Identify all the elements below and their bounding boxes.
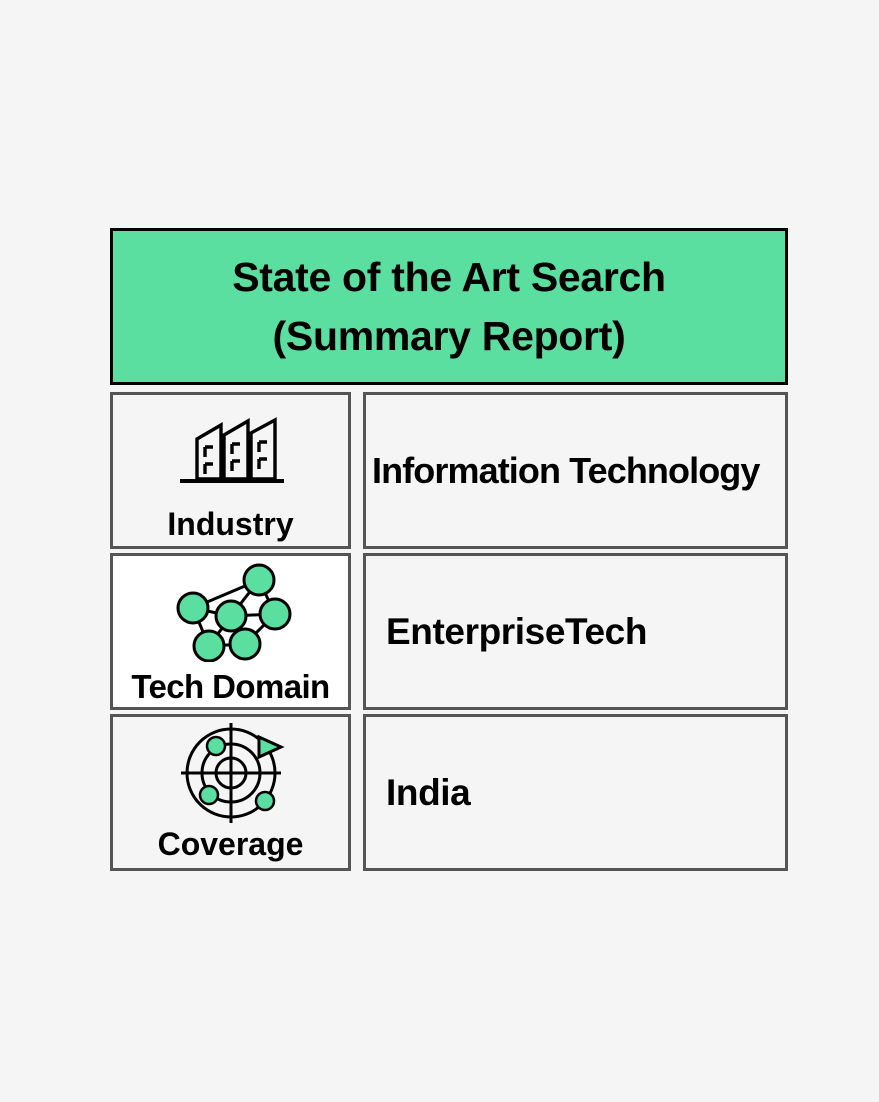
report-title-line-1: State of the Art Search bbox=[232, 254, 666, 300]
report-title: State of the Art Search (Summary Report) bbox=[232, 248, 666, 364]
summary-row-industry: Industry Information Technology bbox=[110, 392, 788, 549]
value-industry: Information Technology bbox=[372, 450, 760, 492]
value-card-tech-domain: EnterpriseTech bbox=[363, 553, 788, 710]
label-card-industry: Industry bbox=[110, 392, 351, 549]
factory-buildings-icon bbox=[175, 411, 287, 491]
icon-area-coverage bbox=[113, 723, 348, 819]
radar-coverage-icon bbox=[175, 719, 287, 823]
network-graph-icon bbox=[169, 558, 293, 662]
label-industry: Industry bbox=[113, 508, 348, 542]
icon-area-industry bbox=[113, 403, 348, 499]
value-card-industry: Information Technology bbox=[363, 392, 788, 549]
label-tech-domain: Tech Domain bbox=[113, 670, 348, 705]
report-title-line-2: (Summary Report) bbox=[232, 307, 666, 365]
report-header-banner: State of the Art Search (Summary Report) bbox=[110, 228, 788, 385]
value-coverage: India bbox=[372, 772, 470, 814]
summary-report: State of the Art Search (Summary Report) bbox=[110, 228, 788, 875]
icon-area-tech-domain bbox=[113, 562, 348, 658]
label-card-coverage: Coverage bbox=[110, 714, 351, 871]
label-coverage: Coverage bbox=[113, 828, 348, 862]
value-tech-domain: EnterpriseTech bbox=[372, 611, 647, 653]
summary-row-coverage: Coverage India bbox=[110, 714, 788, 871]
value-card-coverage: India bbox=[363, 714, 788, 871]
label-card-tech-domain: Tech Domain bbox=[110, 553, 351, 710]
summary-row-tech-domain: Tech Domain EnterpriseTech bbox=[110, 553, 788, 710]
